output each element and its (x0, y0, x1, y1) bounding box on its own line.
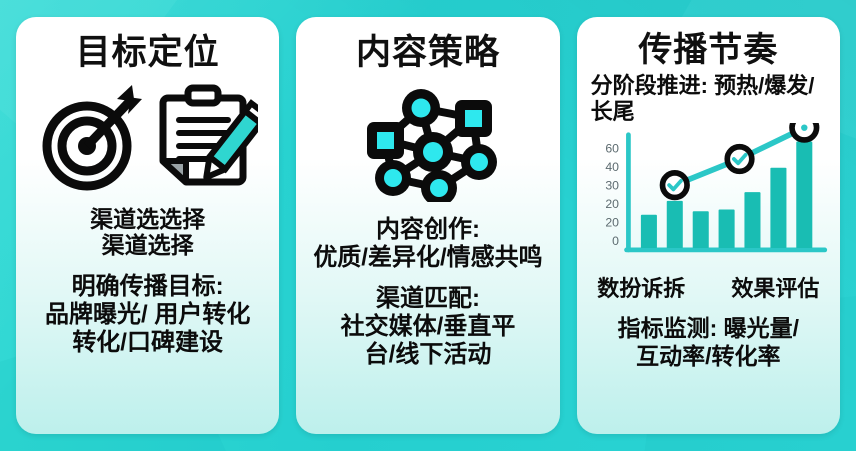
ytick-label-3: 20 (605, 198, 619, 212)
card-title: 传播节奏 (638, 33, 778, 69)
icon-row (38, 80, 258, 192)
metrics-line-2: 互动率/转化率 (618, 343, 799, 371)
xtick-label-1: 效果评估 (731, 271, 819, 303)
chart-container: 60403020200 (585, 123, 832, 273)
network-nodes-icon (355, 80, 501, 202)
goal-heading: 明确传播目标: (45, 273, 250, 301)
channel-line-1: 渠道选选择 (90, 206, 205, 233)
ytick-label-4: 20 (605, 216, 619, 230)
content-creation-block: 内容创作: 优质/差异化/情感共鸣 (313, 216, 542, 272)
metrics-line-1: 指标监测: 曝光量/ (618, 315, 799, 343)
chart-bar (770, 168, 786, 248)
phase-lead-text: 分阶段推进: 预热/爆发/长尾 (585, 73, 832, 126)
chart-bar (796, 142, 812, 248)
clipboard-pencil-icon (152, 80, 258, 192)
card-communication-rhythm[interactable]: 传播节奏 分阶段推进: 预热/爆发/长尾 60403020200 数扮诉拆 效果… (577, 17, 840, 434)
ytick-label-1: 40 (605, 161, 619, 175)
chart-bar (666, 201, 682, 248)
channel-match-block: 渠道匹配: 社交媒体/垂直平 台/线下活动 (341, 285, 516, 368)
growth-chart: 60403020200 (585, 123, 832, 273)
channel-line-2: 渠道选择 (90, 232, 205, 259)
card-row: 目标定位 (0, 0, 856, 451)
icon-row (355, 80, 501, 202)
card-title: 内容策略 (356, 35, 500, 72)
ytick-label-5: 0 (612, 235, 619, 249)
xtick-label-0: 数扮诉拆 (597, 271, 685, 303)
metrics-footer: 指标监测: 曝光量/ 互动率/转化率 (618, 315, 799, 370)
poster-root: 目标定位 (0, 0, 856, 451)
chart-bar (641, 215, 657, 248)
check-icon (801, 125, 807, 131)
channel-line-1: 社交媒体/垂直平 (341, 313, 516, 341)
chart-bar (718, 210, 734, 249)
chart-xaxis-labels: 数扮诉拆 效果评估 (597, 271, 819, 303)
target-arrow-icon (38, 80, 146, 192)
goal-line-2: 转化/口碑建设 (45, 329, 250, 357)
chart-bar (692, 212, 708, 249)
ytick-label-0: 60 (605, 142, 619, 156)
channel-heading: 渠道匹配: (341, 285, 516, 313)
goal-block: 明确传播目标: 品牌曝光/ 用户转化 转化/口碑建设 (45, 273, 250, 356)
card-content-strategy[interactable]: 内容策略 (296, 17, 559, 434)
card-title: 目标定位 (76, 35, 220, 72)
channel-lines: 渠道选选择 渠道选择 (90, 206, 205, 259)
chart-bar (744, 193, 760, 249)
goal-line-1: 品牌曝光/ 用户转化 (45, 301, 250, 329)
channel-line-2: 台/线下活动 (341, 341, 516, 369)
content-heading: 内容创作: (313, 216, 542, 244)
card-target-positioning[interactable]: 目标定位 (16, 17, 279, 434)
content-line-1: 优质/差异化/情感共鸣 (313, 244, 542, 272)
ytick-label-2: 30 (605, 179, 619, 193)
